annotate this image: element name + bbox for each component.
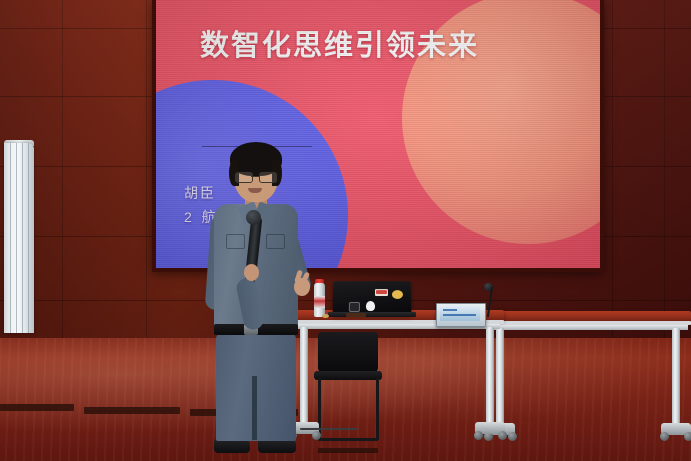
table-leg (486, 327, 494, 423)
table-caster (498, 431, 507, 440)
shirt-pocket (266, 234, 285, 249)
trouser-gap (252, 376, 257, 440)
table-leg (496, 328, 504, 424)
laptop[interactable] (333, 281, 412, 315)
nameplate-text-line (443, 314, 476, 316)
floor-trim-strip (318, 448, 378, 453)
white-radiator (4, 143, 34, 333)
glasses-icon (235, 172, 277, 181)
table-caster (508, 432, 517, 441)
floor-trim-strip (84, 407, 180, 414)
laptop-sticker (376, 290, 387, 294)
hand-left (244, 264, 259, 281)
slide-title: 数智化思维引领未来 (200, 32, 530, 61)
table-caster (660, 432, 669, 441)
laptop-sticker (392, 290, 403, 299)
microphone-head-icon (246, 210, 261, 225)
table-caster (474, 431, 483, 440)
presenter (200, 138, 316, 461)
chair-seat[interactable] (314, 371, 382, 380)
table-leg (672, 328, 680, 424)
laptop-sticker (366, 301, 375, 311)
desk-object (322, 314, 329, 318)
nameplate-text-line (443, 309, 457, 311)
chair-rail (318, 438, 378, 441)
table-apron-right (492, 325, 688, 330)
table-caster (684, 432, 691, 441)
laptop-base (328, 312, 416, 317)
presentation-scene: 数智化思维引领未来 胡臣 2 航大学 (0, 0, 691, 461)
chair-backrest[interactable] (318, 332, 378, 372)
desk-object (346, 313, 366, 317)
shirt-pocket (226, 234, 245, 249)
floor-trim-strip (0, 404, 74, 411)
chair-leg (376, 378, 379, 440)
laptop-sticker (349, 302, 360, 312)
